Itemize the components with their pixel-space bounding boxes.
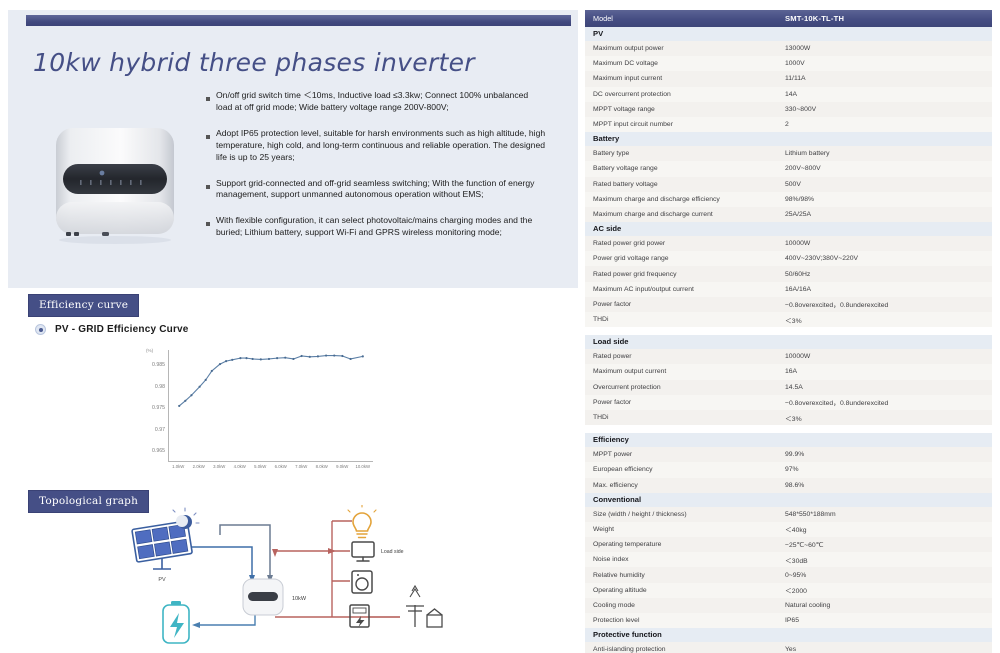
spec-group-header: Battery <box>585 132 992 146</box>
spec-row-value: Lithium battery <box>785 150 830 157</box>
table-row: Protection levelIP65 <box>585 613 992 628</box>
chart-data-point <box>178 405 180 407</box>
battery-wire <box>198 613 255 625</box>
spec-row-label: Maximum output current <box>585 368 785 375</box>
chart-y-tick-label: 0.985 <box>152 362 165 368</box>
section-badge-efficiency-curve: Efficiency curve <box>28 294 139 317</box>
chart-x-tick-label: 9.0kW <box>336 464 348 469</box>
chart-data-point <box>341 355 343 357</box>
table-row: Operating altitude＜2000 <box>585 583 992 598</box>
spec-row-value: 98%/98% <box>785 196 814 203</box>
spec-row-label: Relative humidity <box>585 572 785 579</box>
spec-row-value: 98.6% <box>785 482 804 489</box>
bullet-text: On/off grid switch time ＜10ms, Inductive… <box>216 90 546 114</box>
chart-data-point <box>260 358 262 360</box>
chart-data-point <box>205 379 207 381</box>
spec-row-value: ＜2000 <box>785 585 807 595</box>
table-row: THDi＜3% <box>585 410 992 425</box>
spec-row-label: Power factor <box>585 301 785 308</box>
chart-x-tick-label: 3.0kW <box>213 464 225 469</box>
table-row: Overcurrent protection14.5A <box>585 380 992 395</box>
load-side-label: Load side <box>381 549 404 555</box>
chart-data-point <box>199 386 201 388</box>
table-row: Rated battery voltage500V <box>585 177 992 192</box>
spec-group-gap <box>585 327 992 335</box>
chart-y-tick-label: 0.965 <box>152 448 165 454</box>
spec-group-header: Efficiency <box>585 433 992 447</box>
spec-row-label: Operating temperature <box>585 541 785 548</box>
spec-row-label: European efficiency <box>585 466 785 473</box>
chart-x-tick-label: 1.0kW <box>172 464 184 469</box>
monitor-icon <box>352 542 374 561</box>
spec-row-value: −0.8overexcited，0.8underexcited <box>785 299 888 309</box>
table-row: Noise index＜30dB <box>585 552 992 567</box>
spec-row-value: ＜3% <box>785 315 802 325</box>
spec-group-header: Load side <box>585 335 992 349</box>
spec-row-value: Natural cooling <box>785 602 830 609</box>
bullet-dot-icon <box>206 94 216 114</box>
chart-data-point <box>325 354 327 356</box>
table-row: European efficiency97% <box>585 462 992 477</box>
table-row: Relative humidity0~95% <box>585 567 992 582</box>
washing-machine-icon <box>352 571 372 593</box>
spec-row-value: 10000W <box>785 240 810 247</box>
table-row: Anti-islanding protectionYes <box>585 642 992 653</box>
spec-row-value: 16A/16A <box>785 286 811 293</box>
hero-accent-bar <box>26 15 571 26</box>
table-row: Maximum charge and discharge current25A/… <box>585 207 992 222</box>
table-row: Size (width / height / thickness)548*550… <box>585 507 992 522</box>
pv-wire <box>192 525 270 577</box>
chart-x-tick-label: 10.0kW <box>355 464 370 469</box>
chart-data-point <box>231 359 233 361</box>
spec-row-label: Anti-islanding protection <box>585 646 785 653</box>
table-row: Battery voltage range200V~800V <box>585 161 992 176</box>
spec-row-label: Rated power <box>585 353 785 360</box>
spec-row-label: DC overcurrent protection <box>585 91 785 98</box>
table-row: THDi＜3% <box>585 312 992 327</box>
page-title: 10kw hybrid three phases inverter <box>33 48 475 77</box>
spec-row-value: 14A <box>785 91 797 98</box>
spec-row-label: Maximum input current <box>585 75 785 82</box>
chart-data-point <box>268 358 270 360</box>
spec-row-label: Power factor <box>585 399 785 406</box>
chart-data-point <box>239 357 241 359</box>
spec-table-header: Model SMT-10K-TL-TH <box>585 10 992 27</box>
spec-row-label: Power grid voltage range <box>585 255 785 262</box>
spec-group-header: AC side <box>585 222 992 236</box>
table-row: Maximum output current16A <box>585 364 992 379</box>
bullet-text: Support grid-connected and off-grid seam… <box>216 178 546 202</box>
product-datasheet-page: 10kw hybrid three phases inverter <box>0 0 1000 653</box>
left-column: 10kw hybrid three phases inverter <box>0 0 585 653</box>
inverter-product-image <box>40 120 190 252</box>
table-row: Rated power10000W <box>585 349 992 364</box>
spec-row-label: Cooling mode <box>585 602 785 609</box>
spec-row-label: Operating altitude <box>585 587 785 594</box>
spec-group-header: Protective function <box>585 628 992 642</box>
bullet-text: With flexible configuration, it can sele… <box>216 215 546 239</box>
feature-bullet-list: On/off grid switch time ＜10ms, Inductive… <box>206 90 546 253</box>
spec-row-value: 0~95% <box>785 572 806 579</box>
table-row: Power grid voltage range400V~230V;380V~2… <box>585 251 992 266</box>
specification-table: Model SMT-10K-TL-TH PVMaximum output pow… <box>585 10 992 653</box>
spec-row-value: 1000V <box>785 60 805 67</box>
table-row: Maximum input current11/11A <box>585 71 992 86</box>
chart-data-point <box>252 358 254 360</box>
spec-row-value: 25A/25A <box>785 211 811 218</box>
list-item: Support grid-connected and off-grid seam… <box>206 178 546 202</box>
chart-line-series <box>169 350 373 461</box>
bullet-dot-icon <box>206 219 216 239</box>
chart-data-point <box>349 358 351 360</box>
hero-panel: 10kw hybrid three phases inverter <box>8 10 578 288</box>
chart-x-tick-label: 4.0kW <box>234 464 246 469</box>
efficiency-curve-legend: PV - GRID Efficiency Curve <box>35 324 189 335</box>
spec-row-label: Battery type <box>585 150 785 157</box>
spec-row-value: ＜3% <box>785 413 802 423</box>
spec-table-body: PVMaximum output power13000WMaximum DC v… <box>585 27 992 653</box>
spec-row-value: 11/11A <box>785 75 806 82</box>
bullet-dot-icon <box>206 182 216 202</box>
chart-x-tick-label: 8.0kW <box>316 464 328 469</box>
spec-row-label: MPPT input circuit number <box>585 121 785 128</box>
spec-group-header: Conventional <box>585 493 992 507</box>
table-row: Rated power grid frequency50/60Hz <box>585 266 992 281</box>
spec-group-gap <box>585 425 992 433</box>
spec-row-value: 548*550*188mm <box>785 511 836 518</box>
spec-row-label: Rated power grid frequency <box>585 271 785 278</box>
spec-row-label: Rated power grid power <box>585 240 785 247</box>
spec-group-header: PV <box>585 27 992 41</box>
chart-y-tick-label: 0.975 <box>152 405 165 411</box>
topology-diagram: PV 10kW <box>100 505 460 645</box>
chart-data-point <box>292 358 294 360</box>
light-bulb-icon <box>348 505 376 538</box>
bullet-dot-icon <box>206 132 216 164</box>
spec-row-label: MPPT voltage range <box>585 106 785 113</box>
spec-row-label: Maximum AC input/output current <box>585 286 785 293</box>
load-wire <box>275 521 400 617</box>
table-row: Battery typeLithium battery <box>585 146 992 161</box>
chart-plot-area <box>168 350 373 462</box>
spec-row-value: 97% <box>785 466 799 473</box>
table-row: Cooling modeNatural cooling <box>585 598 992 613</box>
radio-bullet-icon <box>35 324 46 335</box>
chart-y-tick-label: 0.98 <box>155 384 165 390</box>
spec-row-value: −25℃~60℃ <box>785 541 823 549</box>
spec-row-value: 330~800V <box>785 106 816 113</box>
spec-row-value: 10000W <box>785 353 810 360</box>
efficiency-curve-legend-label: PV - GRID Efficiency Curve <box>55 324 189 335</box>
chart-data-point <box>333 354 335 356</box>
table-row: MPPT voltage range330~800V <box>585 102 992 117</box>
chart-data-point <box>317 355 319 357</box>
chart-data-point <box>219 363 221 365</box>
spec-row-value: 50/60Hz <box>785 271 810 278</box>
spec-row-value: 99.9% <box>785 451 804 458</box>
spec-row-label: Maximum DC voltage <box>585 60 785 67</box>
inverter-label: 10kW <box>292 596 307 602</box>
bullet-text: Adopt IP65 protection level, suitable fo… <box>216 128 546 164</box>
table-row: DC overcurrent protection14A <box>585 87 992 102</box>
chart-data-point <box>211 370 213 372</box>
chart-y-tick-label: 0.97 <box>155 427 165 433</box>
chart-x-tick-label: 5.0kW <box>254 464 266 469</box>
chart-y-axis-label: (%) <box>146 348 153 353</box>
spec-row-label: Noise index <box>585 556 785 563</box>
spec-row-label: Rated battery voltage <box>585 181 785 188</box>
spec-row-label: Weight <box>585 526 785 533</box>
spec-row-label: Size (width / height / thickness) <box>585 511 785 518</box>
chart-x-tick-label: 6.0kW <box>275 464 287 469</box>
chart-data-point <box>276 357 278 359</box>
spec-header-label: Model <box>585 14 785 23</box>
table-row: Power factor−0.8overexcited，0.8underexci… <box>585 297 992 312</box>
list-item: Adopt IP65 protection level, suitable fo… <box>206 128 546 164</box>
chart-data-point <box>301 355 303 357</box>
chart-x-tick-label: 7.0kW <box>295 464 307 469</box>
spec-row-value: ＜40kg <box>785 524 807 534</box>
spec-header-model: SMT-10K-TL-TH <box>785 14 844 23</box>
meter-box-icon <box>350 605 369 627</box>
spec-row-value: 2 <box>785 121 789 128</box>
table-row: Maximum charge and discharge efficiency9… <box>585 192 992 207</box>
table-row: MPPT power99.9% <box>585 447 992 462</box>
table-row: Maximum AC input/output current16A/16A <box>585 282 992 297</box>
table-row: Operating temperature−25℃~60℃ <box>585 537 992 552</box>
table-row: Weight＜40kg <box>585 522 992 537</box>
chart-data-point <box>225 360 227 362</box>
spec-row-label: Maximum output power <box>585 45 785 52</box>
table-row: Rated power grid power10000W <box>585 236 992 251</box>
spec-row-value: ＜30dB <box>785 555 808 565</box>
spec-row-label: MPPT power <box>585 451 785 458</box>
table-row: Maximum DC voltage1000V <box>585 56 992 71</box>
efficiency-chart: (%) 0.9650.970.9750.980.985 1.0kW2.0kW3.… <box>128 350 378 485</box>
chart-data-point <box>309 356 311 358</box>
spec-row-label: Battery voltage range <box>585 165 785 172</box>
chart-data-point <box>245 357 247 359</box>
utility-grid-icon <box>406 586 442 627</box>
spec-row-label: Maximum charge and discharge current <box>585 211 785 218</box>
chart-data-point <box>184 400 186 402</box>
spec-row-value: 400V~230V;380V~220V <box>785 255 858 262</box>
chart-data-point <box>284 357 286 359</box>
spec-row-label: THDi <box>585 316 785 323</box>
spec-row-value: 14.5A <box>785 384 803 391</box>
spec-row-value: Yes <box>785 646 796 653</box>
list-item: With flexible configuration, it can sele… <box>206 215 546 239</box>
list-item: On/off grid switch time ＜10ms, Inductive… <box>206 90 546 114</box>
spec-row-label: THDi <box>585 414 785 421</box>
chart-data-point <box>190 394 192 396</box>
spec-row-value: 500V <box>785 181 801 188</box>
pv-label: PV <box>158 577 166 583</box>
spec-row-label: Protection level <box>585 617 785 624</box>
spec-row-value: 13000W <box>785 45 810 52</box>
spec-row-label: Max. efficiency <box>585 482 785 489</box>
spec-row-value: 200V~800V <box>785 165 821 172</box>
spec-row-value: IP65 <box>785 617 799 624</box>
chart-x-tick-label: 2.0kW <box>193 464 205 469</box>
chart-data-point <box>362 355 364 357</box>
table-row: Maximum output power13000W <box>585 41 992 56</box>
spec-row-value: −0.8overexcited，0.8underexcited <box>785 397 888 407</box>
spec-row-label: Overcurrent protection <box>585 384 785 391</box>
spec-row-label: Maximum charge and discharge efficiency <box>585 196 785 203</box>
table-row: MPPT input circuit number2 <box>585 117 992 132</box>
table-row: Max. efficiency98.6% <box>585 478 992 493</box>
inverter-icon <box>243 579 283 615</box>
battery-icon <box>163 601 189 643</box>
table-row: Power factor−0.8overexcited，0.8underexci… <box>585 395 992 410</box>
spec-row-value: 16A <box>785 368 797 375</box>
